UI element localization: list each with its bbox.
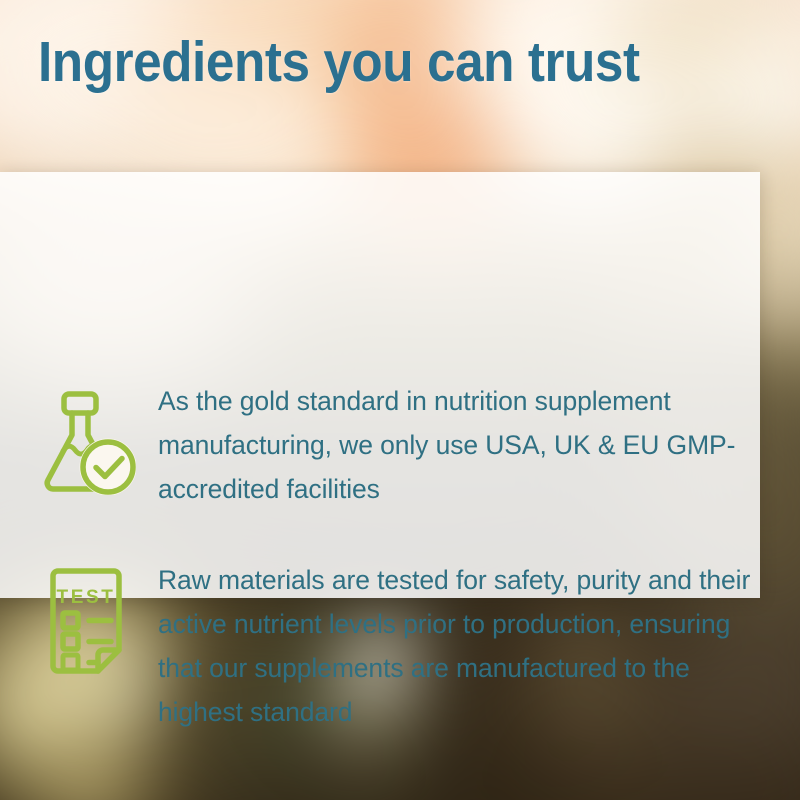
feature-text-manufacturing: As the gold standard in nutrition supple… xyxy=(158,379,750,511)
test-document-label: TEST xyxy=(57,587,116,608)
content-panel: As the gold standard in nutrition supple… xyxy=(0,172,760,598)
feature-row-testing: TEST Raw materials are tested for safety… xyxy=(40,558,760,734)
page-title: Ingredients you can trust xyxy=(38,29,640,95)
feature-text-testing: Raw materials are tested for safety, pur… xyxy=(158,558,760,734)
feature-row-manufacturing: As the gold standard in nutrition supple… xyxy=(40,379,750,511)
promo-graphic: Ingredients you can trust xyxy=(0,0,800,800)
test-document-icon: TEST xyxy=(40,558,158,680)
flask-check-icon xyxy=(40,379,158,495)
